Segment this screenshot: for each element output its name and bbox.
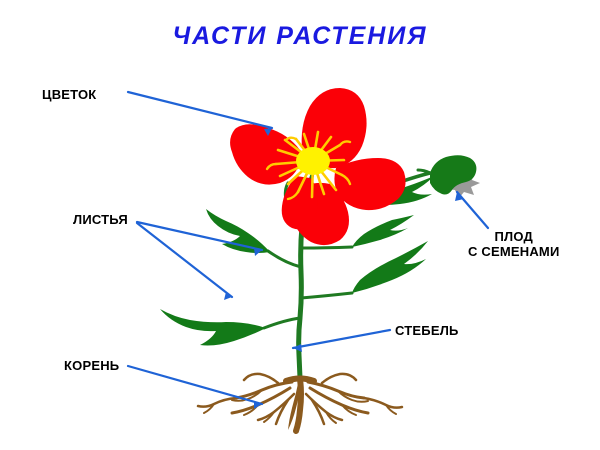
plant-parts-diagram: ЧАСТИ РАСТЕНИЯ xyxy=(0,0,600,450)
label-fruit-line1: ПЛОД xyxy=(495,229,533,244)
leader-stem xyxy=(293,330,390,348)
fruit-icon xyxy=(418,155,480,198)
leader-flower xyxy=(128,92,272,128)
label-root: КОРЕНЬ xyxy=(64,358,119,373)
leader-leaves-2 xyxy=(137,223,232,297)
root-icon xyxy=(198,374,402,431)
label-flower: ЦВЕТОК xyxy=(42,87,96,102)
leader-root xyxy=(128,366,262,404)
label-fruit-line2: С СЕМЕНАМИ xyxy=(468,244,560,259)
flower-center xyxy=(296,147,330,175)
label-leaves: ЛИСТЬЯ xyxy=(73,212,128,227)
label-fruit: ПЛОД С СЕМЕНАМИ xyxy=(468,229,560,259)
flower-icon xyxy=(230,88,405,245)
label-stem: СТЕБЕЛЬ xyxy=(395,323,459,338)
